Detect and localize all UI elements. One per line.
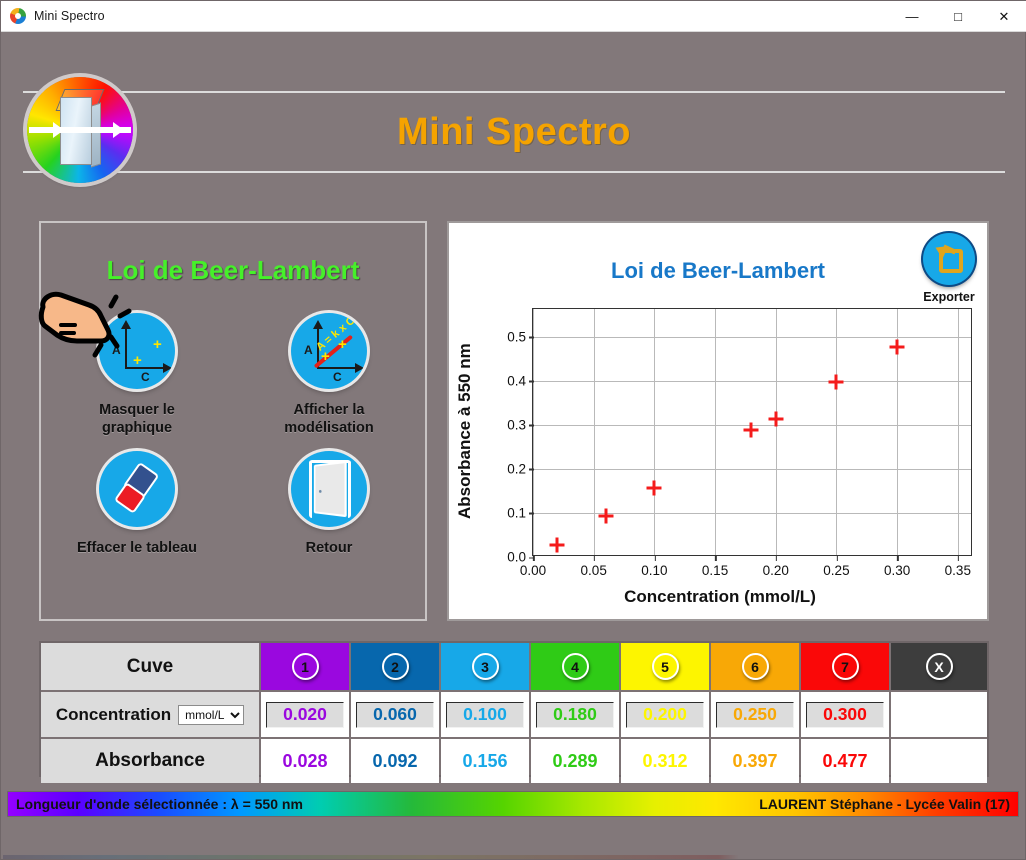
cuve-header-1[interactable]: 1 [261,643,349,690]
clear-badge: X [926,653,953,680]
tool-button-grid: A C + + Masquer le graphique A C A = k x… [41,313,425,557]
x-gridline [594,309,595,555]
icon-axis-x-label: C [141,370,150,384]
cuve-badge: 1 [292,653,319,680]
plot-area: 0.000.050.100.150.200.250.300.350.00.10.… [532,308,972,556]
retour-label: Retour [306,539,353,557]
data-point-marker [550,537,565,552]
y-gridline [533,469,971,470]
absorbance-cell-6: 0.397 [711,739,799,783]
row-label-concentration: Concentrationmmol/Lmol/L [41,692,259,737]
concentration-blank-cell [891,692,987,737]
concentration-cell-3 [441,692,529,737]
concentration-input-6[interactable] [716,702,794,728]
afficher-modelisation-button[interactable]: A C A = k x C + + Afficher la modélisati… [233,313,425,437]
cuve-badge: 6 [742,653,769,680]
effacer-tableau-button[interactable]: Effacer le tableau [41,451,233,557]
icon-axis-y-label-2: A [304,343,313,357]
retour-button[interactable]: Retour [233,451,425,557]
cuve-badge: 5 [652,653,679,680]
minimize-button[interactable]: — [889,1,935,32]
y-axis-label: Absorbance à 550 nm [455,343,475,519]
regression-line-icon: A C A = k x C + + [291,313,367,389]
absorbance-cell-2: 0.092 [351,739,439,783]
close-button[interactable]: ✕ [981,1,1026,32]
row-label-absorbance: Absorbance [41,739,259,783]
x-gridline [654,309,655,555]
cuve-badge: 3 [472,653,499,680]
x-axis-tick: 0.15 [702,563,728,578]
x-axis-tick: 0.30 [884,563,910,578]
x-axis-tick: 0.35 [945,563,971,578]
icon-axis-y-label: A [112,343,121,357]
clear-all-button[interactable]: X [891,643,987,690]
x-axis-tick: 0.25 [823,563,849,578]
concentration-cell-2 [351,692,439,737]
data-point-marker [598,509,613,524]
x-axis-tick: 0.00 [520,563,546,578]
cuve-badge: 4 [562,653,589,680]
y-axis-tick: 0.3 [507,417,526,432]
window-title: Mini Spectro [34,9,105,23]
absorbance-cell-3: 0.156 [441,739,529,783]
data-point-marker [647,481,662,496]
scatter-plot: Absorbance à 550 nm Concentration (mmol/… [449,223,991,623]
cuve-header-7[interactable]: 7 [801,643,889,690]
app-window: Mini Spectro — □ ✕ Mini Spectro Loi de B… [0,0,1026,860]
cuve-header-5[interactable]: 5 [621,643,709,690]
cuve-header-6[interactable]: 6 [711,643,799,690]
concentration-input-2[interactable] [356,702,434,728]
maximize-button[interactable]: □ [935,1,981,32]
measurement-table: Cuve1234567XConcentrationmmol/Lmol/LAbso… [39,641,989,777]
cuve-badge: 7 [832,653,859,680]
y-axis-tick: 0.5 [507,329,526,344]
eraser-icon [99,451,175,527]
beer-lambert-panel: Loi de Beer-Lambert A C + + Masquer le g… [39,221,427,621]
absorbance-blank-cell [891,739,987,783]
header-banner: Mini Spectro [23,91,1005,173]
absorbance-cell-1: 0.028 [261,739,349,783]
x-axis-tick: 0.20 [763,563,789,578]
data-point-marker [744,422,759,437]
data-point-marker [890,339,905,354]
unit-select[interactable]: mmol/Lmol/L [178,705,244,725]
concentration-input-4[interactable] [536,702,614,728]
data-point-marker [768,412,783,427]
x-axis-tick: 0.05 [581,563,607,578]
concentration-input-3[interactable] [446,702,524,728]
concentration-input-5[interactable] [626,702,704,728]
scatter-plot-icon: A C + + [99,313,175,389]
title-bar: Mini Spectro — □ ✕ [1,1,1026,32]
masquer-graphique-button[interactable]: A C + + Masquer le graphique [41,313,233,437]
x-axis-tick: 0.10 [641,563,667,578]
concentration-input-7[interactable] [806,702,884,728]
concentration-cell-4 [531,692,619,737]
author-credit: LAURENT Stéphane - Lycée Valin (17) [759,796,1010,812]
concentration-cell-6 [711,692,799,737]
y-axis-tick: 0.2 [507,461,526,476]
concentration-label: Concentration [56,705,171,725]
panel-title: Loi de Beer-Lambert [41,255,425,286]
background-window-edge [3,855,1025,859]
cuve-header-4[interactable]: 4 [531,643,619,690]
page-title: Mini Spectro [397,111,631,154]
data-point-marker [829,374,844,389]
absorbance-cell-5: 0.312 [621,739,709,783]
cuve-header-2[interactable]: 2 [351,643,439,690]
icon-axis-x-label-2: C [333,370,342,384]
app-icon [10,8,26,24]
y-gridline [533,337,971,338]
concentration-cell-5 [621,692,709,737]
x-gridline [776,309,777,555]
table-header-cuve: Cuve [41,643,259,690]
cuve-badge: 2 [382,653,409,680]
concentration-input-1[interactable] [266,702,344,728]
absorbance-cell-4: 0.289 [531,739,619,783]
window-controls: — □ ✕ [889,1,1026,32]
chart-panel: Loi de Beer-Lambert Exporter Absorbance … [447,221,989,621]
x-gridline [958,309,959,555]
effacer-tableau-label: Effacer le tableau [77,539,197,557]
wavelength-status: Longueur d'onde sélectionnée : λ = 550 n… [16,796,303,812]
x-gridline [533,309,534,555]
afficher-modelisation-label: Afficher la modélisation [284,401,373,437]
y-gridline [533,381,971,382]
x-axis-label: Concentration (mmol/L) [449,587,991,607]
x-gridline [836,309,837,555]
cuve-header-3[interactable]: 3 [441,643,529,690]
concentration-cell-7 [801,692,889,737]
spectro-logo-icon [27,77,133,183]
y-axis-tick: 0.1 [507,505,526,520]
masquer-graphique-label: Masquer le graphique [99,401,175,437]
x-gridline [715,309,716,555]
y-axis-tick: 0.4 [507,373,526,388]
concentration-cell-1 [261,692,349,737]
door-exit-icon [291,451,367,527]
status-bar: Longueur d'onde sélectionnée : λ = 550 n… [7,791,1019,817]
y-axis-tick: 0.0 [507,550,526,565]
absorbance-cell-7: 0.477 [801,739,889,783]
